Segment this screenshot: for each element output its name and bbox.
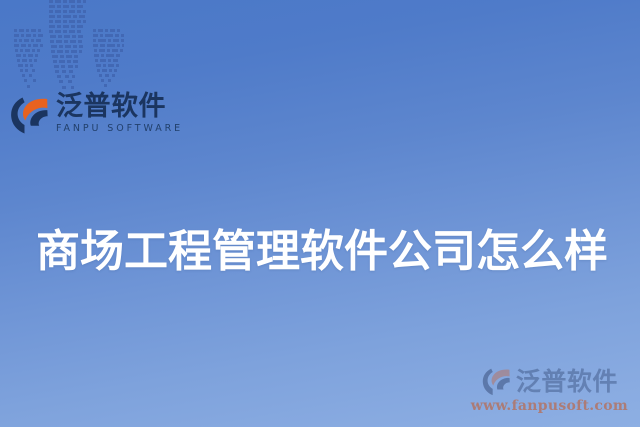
watermark-url: www.fanpusoft.com	[471, 398, 628, 415]
fanpu-logo-mark-watermark	[481, 366, 511, 397]
brand-text: 泛普软件 FANPU SOFTWARE	[56, 92, 183, 135]
site-watermark: 泛普软件 www.fanpusoft.com	[471, 366, 628, 415]
fanpu-logo-mark	[9, 94, 49, 136]
pixel-skyline-pattern	[6, 0, 132, 98]
watermark-logo-row: 泛普软件	[481, 366, 618, 397]
brand-name-en: FANPU SOFTWARE	[56, 123, 183, 135]
watermark-brand-name: 泛普软件	[516, 368, 618, 396]
brand-logo: 泛普软件 FANPU SOFTWARE	[9, 92, 183, 136]
brand-name-cn: 泛普软件	[56, 92, 183, 122]
promo-banner: 泛普软件 FANPU SOFTWARE 商场工程管理软件公司怎么样 泛普软件 w…	[0, 0, 640, 427]
page-title: 商场工程管理软件公司怎么样	[36, 225, 608, 279]
